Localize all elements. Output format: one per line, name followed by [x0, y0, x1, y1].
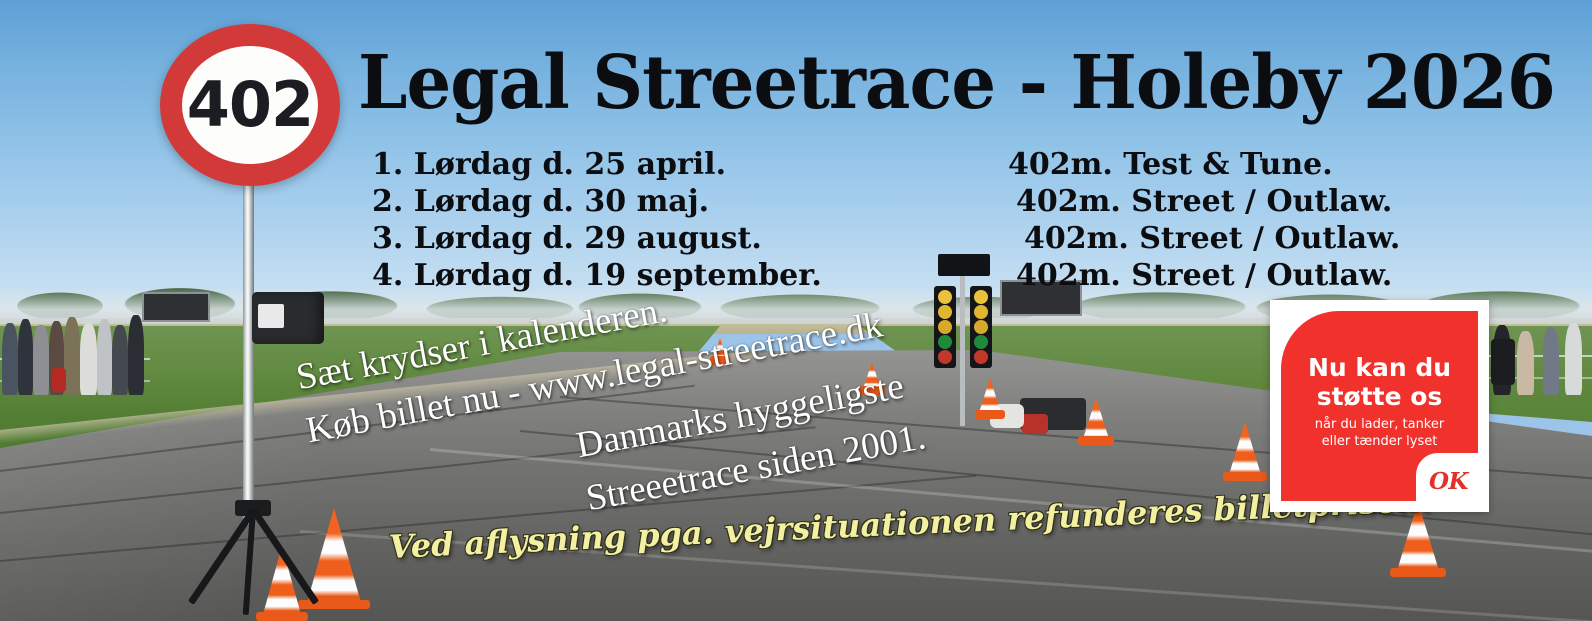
amber-bulb [974, 320, 988, 334]
schedule-format: 402m. Street / Outlaw. [1008, 220, 1400, 257]
tree-mast [960, 276, 965, 426]
cone-base [975, 410, 1006, 419]
schedule-date: 1. Lørdag d. 25 april. [372, 146, 822, 183]
cone-base [1223, 472, 1267, 481]
spectator [1543, 327, 1559, 395]
tree-tower-left [934, 286, 956, 368]
sponsor-subtext-line1: når du lader, tanker [1281, 416, 1478, 433]
tripod-leg [251, 508, 319, 605]
equipment-bag [52, 368, 66, 392]
schedule-format: 402m. Street / Outlaw. [1008, 183, 1400, 220]
amber-bulb [974, 290, 988, 304]
distant-scoreboard [142, 292, 210, 322]
traffic-cone [1228, 422, 1262, 478]
spectator [2, 323, 18, 395]
amber-bulb [938, 290, 952, 304]
schedule-format: 402m. Test & Tune. [1008, 146, 1400, 183]
green-bulb [974, 335, 988, 349]
sponsor-headline-line2: støtte os [1281, 382, 1478, 411]
cone-body [1228, 422, 1262, 478]
pole-winch [252, 292, 324, 344]
spectator [112, 325, 128, 395]
cone-base [1390, 568, 1446, 577]
tripod-base [178, 500, 328, 621]
schedule-date: 2. Lørdag d. 30 maj. [372, 183, 822, 220]
amber-bulb [974, 305, 988, 319]
cone-base [1078, 436, 1114, 445]
spectator [1565, 323, 1582, 395]
spectators-left [0, 300, 150, 395]
sign-number-label: 402 [187, 74, 313, 136]
sponsor-headline-line1: Nu kan du [1281, 353, 1478, 382]
spectator [1517, 331, 1534, 395]
sponsor-logo-shape: Nu kan du støtte os når du lader, tanker… [1281, 311, 1478, 501]
tree-top-board [938, 254, 990, 276]
sponsor-subtext: når du lader, tanker eller tænder lyset [1281, 416, 1478, 450]
schedule-format: 402m. Street / Outlaw. [1008, 257, 1400, 294]
sponsor-logo-ok[interactable]: Nu kan du støtte os når du lader, tanker… [1270, 300, 1489, 512]
track-equipment [1491, 339, 1515, 385]
red-bulb [938, 350, 952, 364]
amber-bulb [938, 320, 952, 334]
spectator [33, 325, 49, 395]
tree-tower-right [970, 286, 992, 368]
spectator [128, 315, 144, 395]
equipment-case [1022, 414, 1048, 434]
schedule-format-column: 402m. Test & Tune. 402m. Street / Outlaw… [1008, 146, 1400, 294]
sponsor-subtext-line2: eller tænder lyset [1281, 433, 1478, 450]
page-title: Legal Streetrace - Holeby 2026 [358, 46, 1555, 120]
sponsor-headline: Nu kan du støtte os [1281, 353, 1478, 411]
green-bulb [938, 335, 952, 349]
traffic-cone [1082, 398, 1110, 442]
spectator [18, 319, 33, 395]
spectator [97, 319, 112, 395]
sponsor-brand-name: OK [1429, 468, 1468, 495]
spectator [64, 317, 80, 395]
speed-limit-sign-402: 402 [160, 24, 340, 186]
schedule-date: 3. Lørdag d. 29 august. [372, 220, 822, 257]
spectator [80, 323, 97, 395]
traffic-cone [978, 378, 1002, 416]
race-event-poster: 402 Legal Streetrace - Holeby 2026 1. Lø… [0, 0, 1592, 621]
amber-bulb [938, 305, 952, 319]
red-bulb [974, 350, 988, 364]
